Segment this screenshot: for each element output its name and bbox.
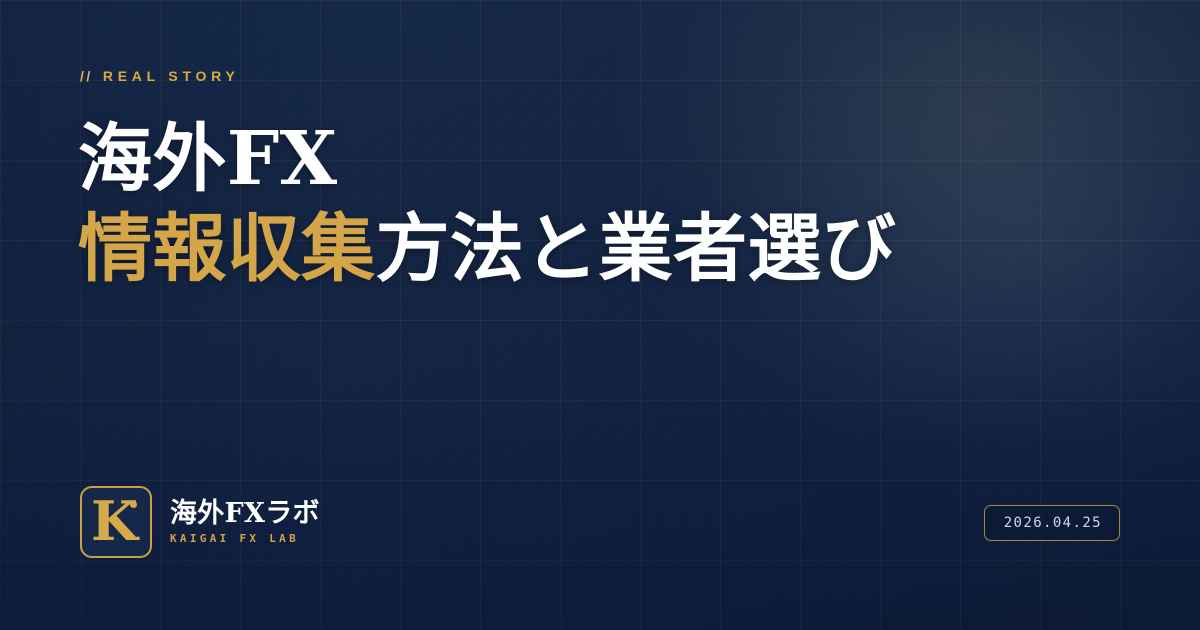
page-title: 海外FX 情報収集方法と業者選び [78,114,896,294]
brand-lockup: K 海外FXラボ KAIGAI FX LAB [80,486,320,558]
content-layer: //REAL STORY 海外FX 情報収集方法と業者選び K 海外FXラボ K… [0,0,1200,630]
headline-rest: 方法と業者選び [375,206,896,292]
brand-text-block: 海外FXラボ KAIGAI FX LAB [170,499,320,545]
og-image-canvas: //REAL STORY 海外FX 情報収集方法と業者選び K 海外FXラボ K… [0,0,1200,630]
headline-line-1: 海外FX [78,114,896,204]
date-badge-value: 2026.04.25 [1004,515,1102,531]
brand-logo-icon: K [80,486,152,558]
eyebrow-label: //REAL STORY [80,68,240,84]
headline-line-2: 情報収集方法と業者選び [78,204,896,294]
headline-highlight: 情報収集 [78,206,375,292]
slash-icon: // [80,68,93,84]
brand-name: 海外FXラボ [170,499,320,529]
brand-subtitle: KAIGAI FX LAB [170,532,320,545]
logo-dot-icon [130,501,137,508]
eyebrow-text: REAL STORY [103,68,240,84]
date-badge: 2026.04.25 [984,505,1120,541]
